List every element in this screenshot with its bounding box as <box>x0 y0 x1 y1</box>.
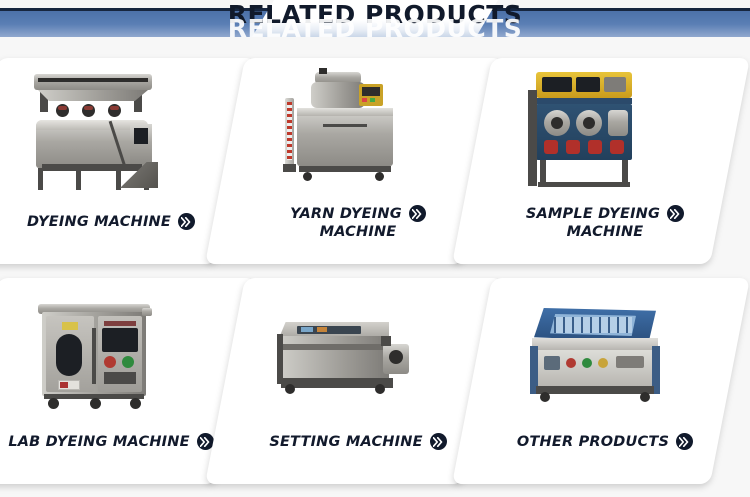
product-image-sample-dyeing-machine <box>510 68 675 200</box>
double-chevron-right-icon[interactable] <box>676 433 693 450</box>
product-image-dyeing-machine <box>16 68 181 200</box>
product-image-other-products <box>510 288 675 420</box>
double-chevron-right-icon[interactable] <box>667 205 684 222</box>
product-card-other-products[interactable]: OTHER PRODUCTS <box>472 278 730 484</box>
product-card-yarn-dyeing-machine[interactable]: YARN DYEING MACHINE <box>225 58 483 264</box>
related-products-banner: RELATED PRODUCTS RELATED PRODUCTS <box>0 0 750 37</box>
product-label-other-products: OTHER PRODUCTS <box>494 434 716 452</box>
product-card-sample-dyeing-machine[interactable]: SAMPLE DYEING MACHINE <box>472 58 730 264</box>
page-title: RELATED PRODUCTS RELATED PRODUCTS <box>0 0 750 33</box>
product-grid: DYEING MACHINE <box>0 37 750 497</box>
product-image-lab-dyeing-machine <box>16 288 181 420</box>
product-label-lab-dyeing-machine: LAB DYEING MACHINE <box>0 434 222 452</box>
double-chevron-right-icon[interactable] <box>178 213 195 230</box>
product-label-setting-machine: SETTING MACHINE <box>247 434 469 452</box>
product-image-yarn-dyeing-machine <box>263 68 428 200</box>
product-label-sample-dyeing-machine: SAMPLE DYEING MACHINE <box>494 206 716 241</box>
double-chevron-right-icon[interactable] <box>409 205 426 222</box>
product-card-lab-dyeing-machine[interactable]: LAB DYEING MACHINE <box>0 278 236 484</box>
product-label-dyeing-machine: DYEING MACHINE <box>0 214 222 232</box>
product-card-setting-machine[interactable]: SETTING MACHINE <box>225 278 483 484</box>
product-image-setting-machine <box>263 288 428 420</box>
page-title-reflection: RELATED PRODUCTS <box>0 10 750 37</box>
product-label-yarn-dyeing-machine: YARN DYEING MACHINE <box>247 206 469 241</box>
product-card-dyeing-machine[interactable]: DYEING MACHINE <box>0 58 236 264</box>
double-chevron-right-icon[interactable] <box>430 433 447 450</box>
